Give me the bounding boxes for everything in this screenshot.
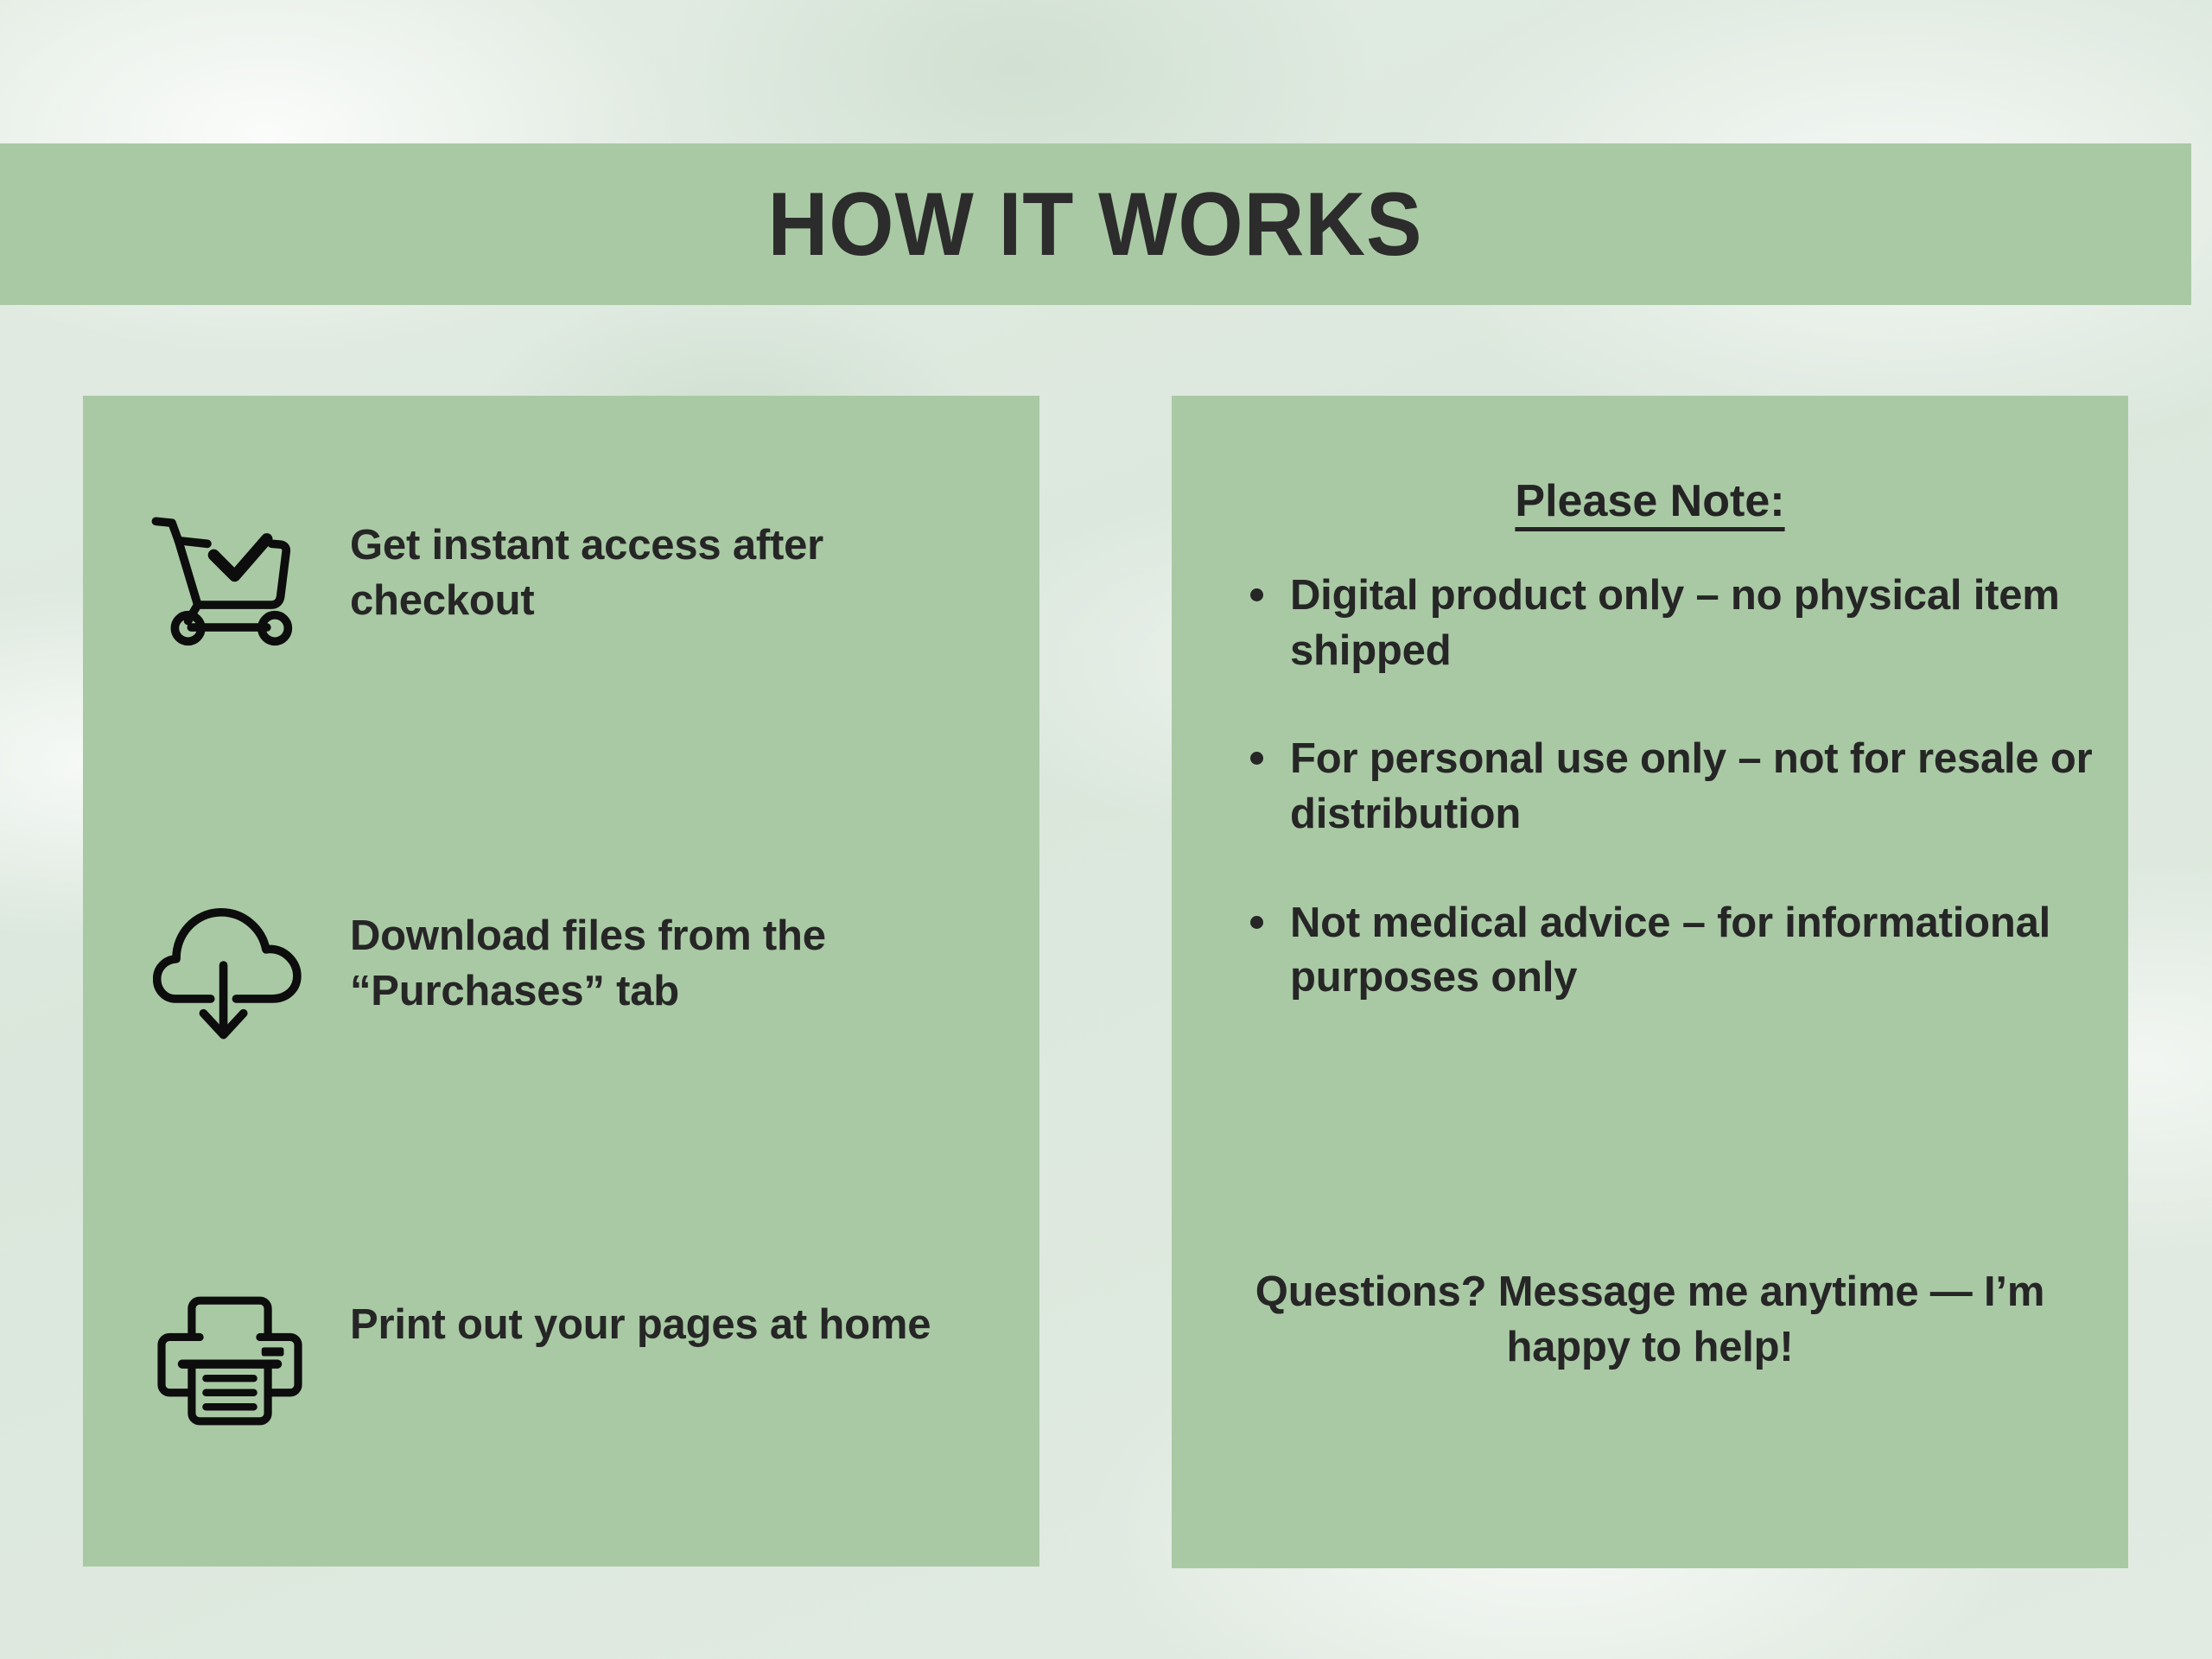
bullet-icon	[1250, 916, 1263, 929]
step-label: Download files from the “Purchases” tab	[350, 909, 981, 1019]
list-item: Digital product only – no physical item …	[1214, 569, 2154, 678]
please-note-card: Please Note: Digital product only – no p…	[1172, 396, 2128, 1568]
step-label: Get instant access after checkout	[350, 518, 981, 628]
step-item-download: Download files from the “Purchases” tab	[83, 900, 1039, 1059]
shopping-cart-check-icon	[143, 510, 316, 669]
list-item: Not medical advice – for informational p…	[1214, 896, 2154, 1006]
printer-icon	[143, 1289, 316, 1448]
bullet-icon	[1250, 588, 1263, 601]
note-text: For personal use only – not for resale o…	[1290, 735, 2092, 837]
step-item-print: Print out your pages at home	[83, 1289, 1039, 1448]
cloud-download-icon	[143, 900, 316, 1059]
steps-card: Get instant access after checkout Downlo…	[83, 396, 1039, 1567]
header-band: HOW IT WORKS	[0, 143, 2191, 305]
closing-message: Questions? Message me anytime — I’m happ…	[1224, 1265, 2076, 1375]
note-text: Digital product only – no physical item …	[1290, 572, 2060, 674]
page-title: HOW IT WORKS	[768, 180, 1423, 270]
step-item-instant-access: Get instant access after checkout	[83, 510, 1039, 669]
list-item: For personal use only – not for resale o…	[1214, 732, 2154, 842]
note-text: Not medical advice – for informational p…	[1290, 899, 2050, 1001]
step-label: Print out your pages at home	[350, 1298, 981, 1353]
note-list: Digital product only – no physical item …	[1172, 569, 2128, 1059]
please-note-heading: Please Note:	[1172, 475, 2128, 527]
bullet-icon	[1250, 752, 1263, 765]
